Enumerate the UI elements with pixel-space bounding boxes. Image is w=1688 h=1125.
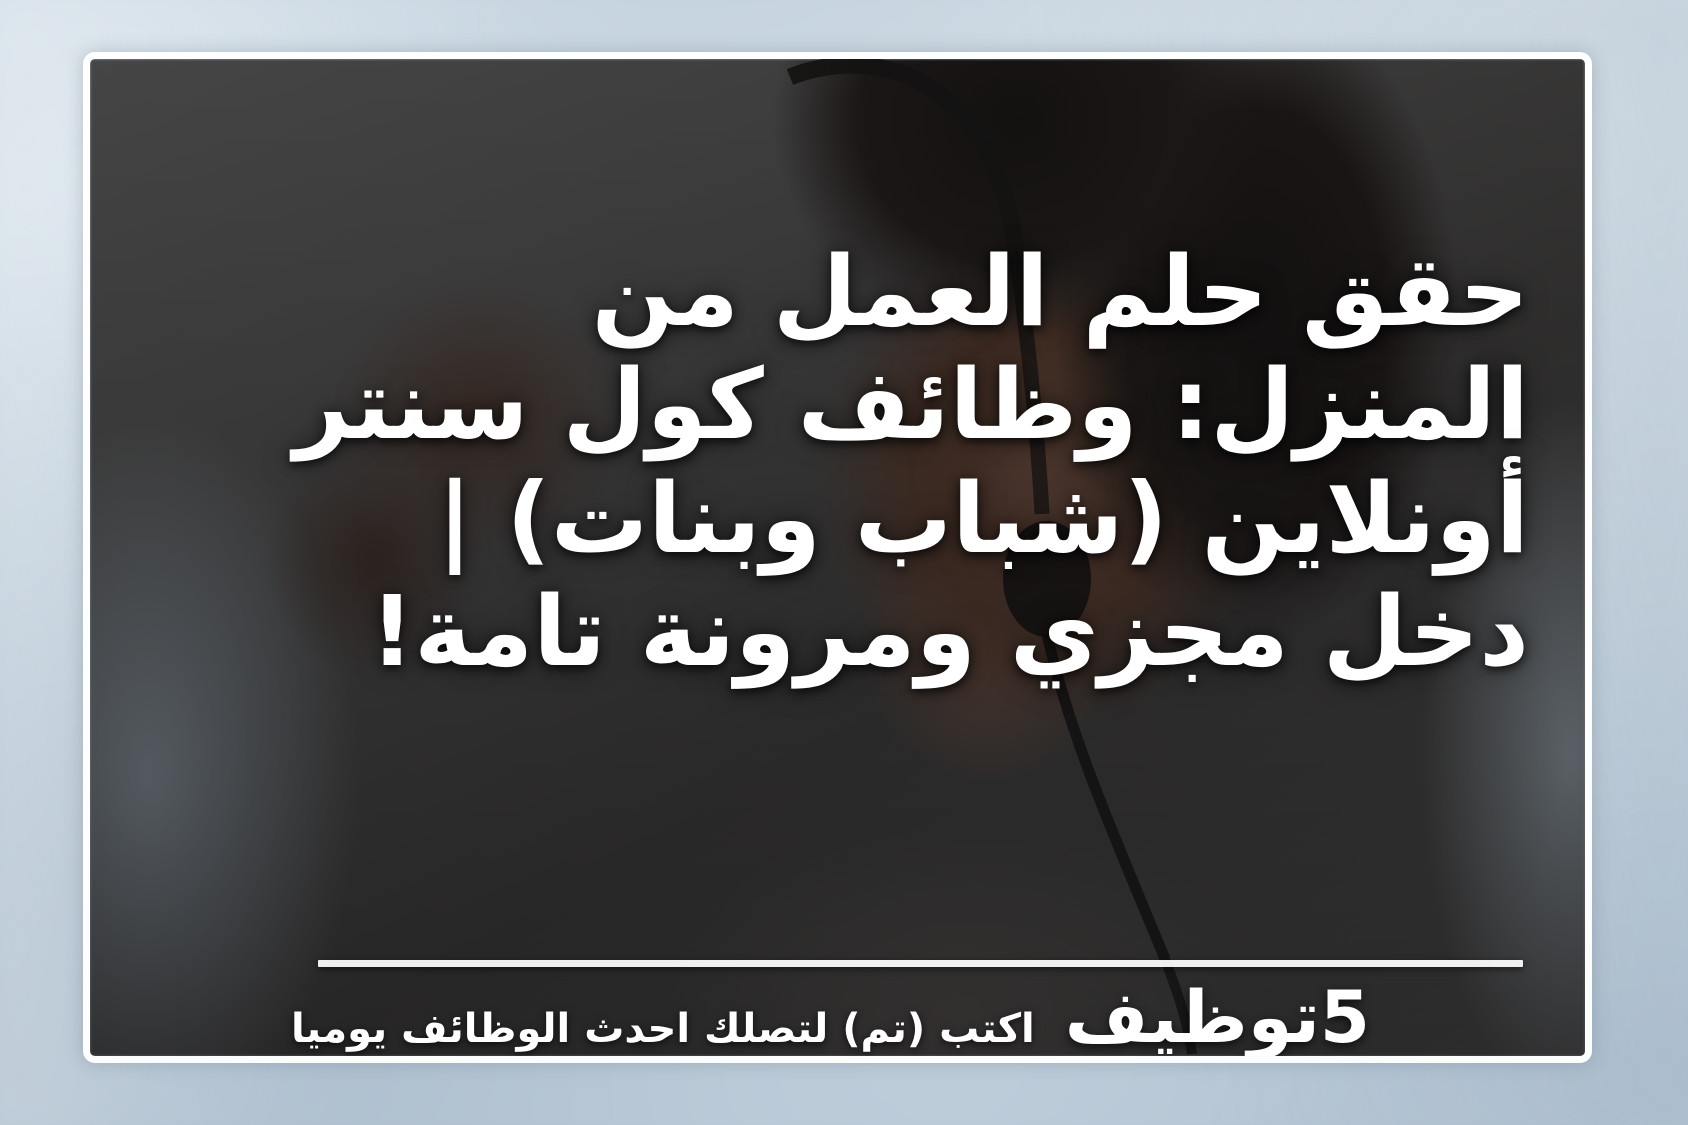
framed-poster-card: حقق حلم العمل من المنزل: وظائف كول سنتر … xyxy=(83,52,1592,1063)
footer-divider xyxy=(318,960,1523,967)
page-title: حقق حلم العمل من المنزل: وظائف كول سنتر … xyxy=(210,235,1529,689)
brand-logo-text: 5توظيف xyxy=(1065,981,1370,1053)
banner-canvas: حقق حلم العمل من المنزل: وظائف كول سنتر … xyxy=(0,0,1688,1125)
subscribe-tagline: اكتب (تم) لتصلك احدث الوظائف يوميا xyxy=(291,1009,1035,1049)
footer-bar: 5توظيف اكتب (تم) لتصلك احدث الوظائف يومي… xyxy=(290,981,1370,1053)
